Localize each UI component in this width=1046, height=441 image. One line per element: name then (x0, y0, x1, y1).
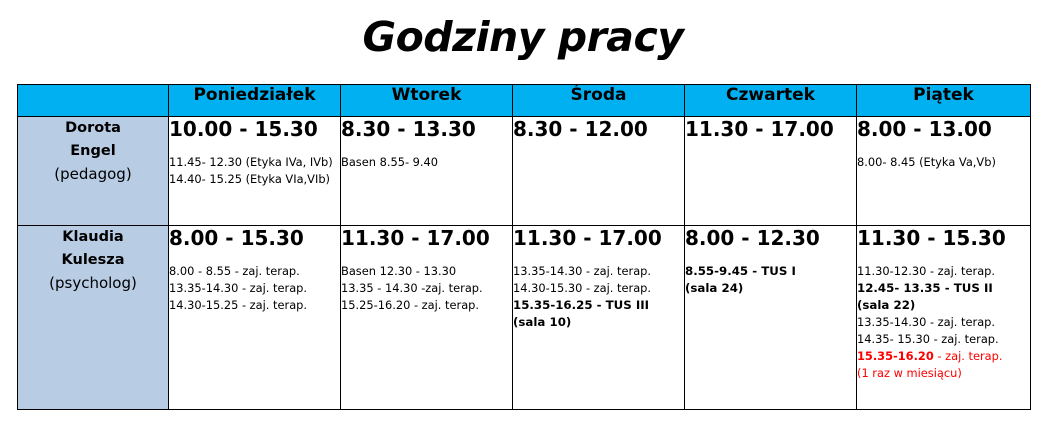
cell-notes: 11.30-12.30 - zaj. terap.12.45- 13.35 - … (857, 263, 1030, 382)
cell-notes: Basen 12.30 - 13.3013.35 - 14.30 -zaj. t… (341, 263, 512, 314)
cell-hours: 8.30 - 12.00 (513, 117, 684, 142)
cell-notes: 8.00 - 8.55 - zaj. terap.13.35-14.30 - z… (169, 263, 340, 314)
cell-note-line: 14.35- 15.30 - zaj. terap. (857, 331, 1030, 348)
person-role: (psycholog) (18, 272, 168, 295)
schedule-cell: 10.00 - 15.3011.45- 12.30 (Etyka IVa, IV… (169, 117, 341, 226)
cell-note-line: 12.45- 13.35 - TUS II (857, 280, 1030, 297)
cell-note-line: 15.25-16.20 - zaj. terap. (341, 297, 512, 314)
person-name-cell: DorotaEngel(pedagog) (18, 117, 169, 226)
schedule-cell: 11.30 - 17.00 (685, 117, 857, 226)
cell-note-line: 13.35-14.30 - zaj. terap. (513, 263, 684, 280)
cell-notes: 11.45- 12.30 (Etyka IVa, IVb)14.40- 15.2… (169, 154, 340, 188)
cell-note-line: 14.30-15.30 - zaj. terap. (513, 280, 684, 297)
cell-note-line: 8.00- 8.45 (Etyka Va,Vb) (857, 154, 1030, 171)
cell-notes: Basen 8.55- 9.40 (341, 154, 512, 171)
column-header-tuesday: Wtorek (341, 85, 513, 117)
cell-note-line: 11.45- 12.30 (Etyka IVa, IVb) (169, 154, 340, 171)
cell-hours: 8.00 - 15.30 (169, 226, 340, 251)
cell-hours: 10.00 - 15.30 (169, 117, 340, 142)
table-header: Poniedziałek Wtorek Środa Czwartek Piąte… (18, 85, 1031, 117)
cell-note-line: 8.55-9.45 - TUS I (685, 263, 856, 280)
person-first-name: Dorota (18, 117, 168, 140)
column-header-monday: Poniedziałek (169, 85, 341, 117)
cell-hours: 8.00 - 12.30 (685, 226, 856, 251)
person-last-name: Engel (18, 140, 168, 163)
cell-note-line: Basen 8.55- 9.40 (341, 154, 512, 171)
cell-note-line: 8.00 - 8.55 - zaj. terap. (169, 263, 340, 280)
table-corner-cell (18, 85, 169, 117)
person-name-cell: KlaudiaKulesza(psycholog) (18, 226, 169, 410)
cell-note-line: 13.35-14.30 - zaj. terap. (169, 280, 340, 297)
table-row: DorotaEngel(pedagog)10.00 - 15.3011.45- … (18, 117, 1031, 226)
cell-hours: 11.30 - 17.00 (341, 226, 512, 251)
schedule-cell: 8.30 - 12.00 (513, 117, 685, 226)
cell-notes: 8.55-9.45 - TUS I(sala 24) (685, 263, 856, 297)
cell-note-line: 15.35-16.25 - TUS III (513, 297, 684, 314)
cell-note-line: (sala 10) (513, 314, 684, 331)
schedule-cell: 11.30 - 17.0013.35-14.30 - zaj. terap.14… (513, 226, 685, 410)
page-title: Godziny pracy (0, 12, 1046, 62)
cell-note-line: 13.35-14.30 - zaj. terap. (857, 314, 1030, 331)
cell-note-line: 14.40- 15.25 (Etyka VIa,VIb) (169, 171, 340, 188)
schedule-table-container: Poniedziałek Wtorek Środa Czwartek Piąte… (17, 84, 1030, 410)
cell-hours: 11.30 - 15.30 (857, 226, 1030, 251)
cell-note-line: 14.30-15.25 - zaj. terap. (169, 297, 340, 314)
cell-note-line: (sala 22) (857, 297, 1030, 314)
schedule-cell: 11.30 - 15.3011.30-12.30 - zaj. terap.12… (857, 226, 1031, 410)
cell-notes: 8.00- 8.45 (Etyka Va,Vb) (857, 154, 1030, 171)
schedule-cell: 8.00 - 12.308.55-9.45 - TUS I(sala 24) (685, 226, 857, 410)
table-row: KlaudiaKulesza(psycholog)8.00 - 15.308.0… (18, 226, 1031, 410)
person-last-name: Kulesza (18, 249, 168, 272)
table-header-row: Poniedziałek Wtorek Środa Czwartek Piąte… (18, 85, 1031, 117)
schedule-cell: 8.00 - 13.008.00- 8.45 (Etyka Va,Vb) (857, 117, 1031, 226)
schedule-cell: 11.30 - 17.00Basen 12.30 - 13.3013.35 - … (341, 226, 513, 410)
column-header-wednesday: Środa (513, 85, 685, 117)
cell-hours: 8.00 - 13.00 (857, 117, 1030, 142)
cell-hours: 8.30 - 13.30 (341, 117, 512, 142)
cell-note-line: 11.30-12.30 - zaj. terap. (857, 263, 1030, 280)
cell-hours: 11.30 - 17.00 (513, 226, 684, 251)
schedule-cell: 8.00 - 15.308.00 - 8.55 - zaj. terap.13.… (169, 226, 341, 410)
cell-note-line: 13.35 - 14.30 -zaj. terap. (341, 280, 512, 297)
column-header-thursday: Czwartek (685, 85, 857, 117)
cell-hours: 11.30 - 17.00 (685, 117, 856, 142)
table-body: DorotaEngel(pedagog)10.00 - 15.3011.45- … (18, 117, 1031, 410)
working-hours-table: Poniedziałek Wtorek Środa Czwartek Piąte… (17, 84, 1031, 410)
column-header-friday: Piątek (857, 85, 1031, 117)
schedule-cell: 8.30 - 13.30Basen 8.55- 9.40 (341, 117, 513, 226)
schedule-page: Godziny pracy Poniedziałek Wtorek Środa … (0, 0, 1046, 441)
cell-note-line: Basen 12.30 - 13.30 (341, 263, 512, 280)
cell-note-line: 15.35-16.20 - zaj. terap. (857, 348, 1030, 365)
person-role: (pedagog) (18, 163, 168, 186)
cell-note-line: (1 raz w miesiącu) (857, 365, 1030, 382)
cell-note-line: (sala 24) (685, 280, 856, 297)
cell-notes: 13.35-14.30 - zaj. terap.14.30-15.30 - z… (513, 263, 684, 331)
person-first-name: Klaudia (18, 226, 168, 249)
